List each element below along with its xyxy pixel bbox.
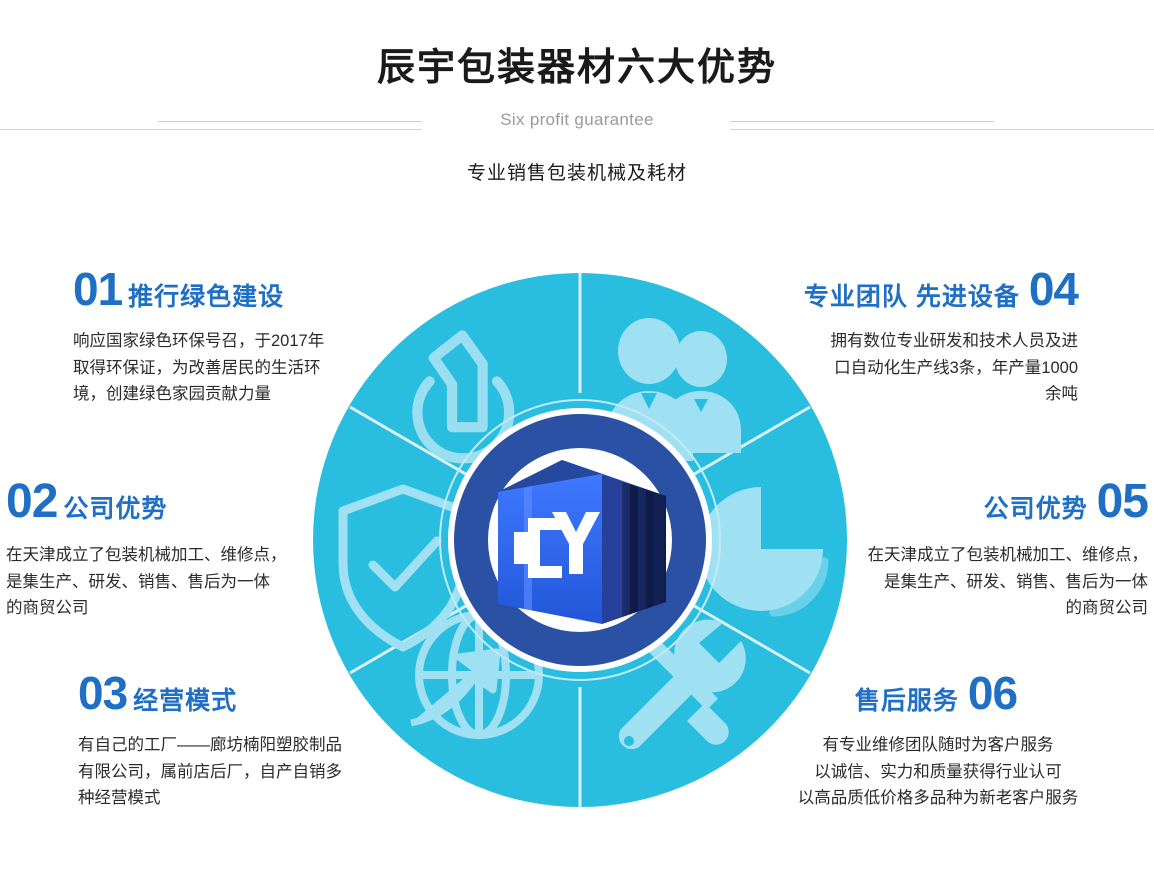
advantage-card-03: 03 经营模式 有自己的工厂——廊坊楠阳塑胶制品 有限公司，属前店后厂，自产自销… <box>78 670 388 812</box>
body-line: 境，创建绿色家园贡献力量 <box>73 381 373 408</box>
advantage-card-04-body: 拥有数位专业研发和技术人员及进 口自动化生产线3条，年产量1000 余吨 <box>782 328 1078 408</box>
body-line: 有限公司，属前店后厂，自产自销多 <box>78 759 388 786</box>
body-line: 在天津成立了包装机械加工、维修点， <box>6 542 302 569</box>
advantage-card-04: 专业团队 先进设备 04 拥有数位专业研发和技术人员及进 口自动化生产线3条，年… <box>782 266 1078 408</box>
advantage-card-03-body: 有自己的工厂——廊坊楠阳塑胶制品 有限公司，属前店后厂，自产自销多 种经营模式 <box>78 732 388 812</box>
body-line: 拥有数位专业研发和技术人员及进 <box>782 328 1078 355</box>
advantage-card-01-number: 01 <box>73 266 122 312</box>
advantage-card-06-number: 06 <box>968 670 1017 716</box>
body-line: 的商贸公司 <box>6 595 302 622</box>
advantage-card-05-label: 公司优势 <box>984 497 1088 522</box>
advantage-card-03-label: 经营模式 <box>133 689 237 714</box>
body-line: 种经营模式 <box>78 785 388 812</box>
advantage-card-01-body: 响应国家绿色环保号召，于2017年 取得环保证，为改善居民的生活环 境，创建绿色… <box>73 328 373 408</box>
subtitle-english: Six profit guarantee <box>0 110 1154 130</box>
advantage-card-02-label: 公司优势 <box>63 497 167 522</box>
advantage-card-02-heading: 02 公司优势 <box>6 478 302 526</box>
advantage-card-02-body: 在天津成立了包装机械加工、维修点， 是集生产、研发、销售、售后为一体 的商贸公司 <box>6 542 302 622</box>
advantage-card-06-body: 有专业维修团队随时为客户服务 以诚信、实力和质量获得行业认可 以高品质低价格多品… <box>780 732 1096 812</box>
advantage-card-01-label: 推行绿色建设 <box>128 285 284 310</box>
advantage-card-06-heading: 售后服务 06 <box>780 670 1096 716</box>
advantage-card-05-body: 在天津成立了包装机械加工、维修点， 是集生产、研发、销售、售后为一体 的商贸公司 <box>856 542 1148 622</box>
advantage-card-05-number: 05 <box>1097 478 1148 526</box>
body-line: 响应国家绿色环保号召，于2017年 <box>73 328 373 355</box>
body-line: 在天津成立了包装机械加工、维修点， <box>856 542 1148 569</box>
body-line: 是集生产、研发、销售、售后为一体 <box>6 569 302 596</box>
body-line: 余吨 <box>782 381 1078 408</box>
page-header: 辰宇包装器材六大优势 Six profit guarantee 专业销售包装机械… <box>0 0 1154 210</box>
body-line: 是集生产、研发、销售、售后为一体 <box>856 569 1148 596</box>
advantage-card-03-heading: 03 经营模式 <box>78 670 388 716</box>
body-line: 取得环保证，为改善居民的生活环 <box>73 355 373 382</box>
advantage-card-03-number: 03 <box>78 670 127 716</box>
advantage-card-04-label: 专业团队 先进设备 <box>804 285 1020 310</box>
advantage-card-04-number: 04 <box>1029 266 1078 312</box>
body-line: 以诚信、实力和质量获得行业认可 <box>780 759 1096 786</box>
body-line: 口自动化生产线3条，年产量1000 <box>782 355 1078 382</box>
advantage-card-06: 售后服务 06 有专业维修团队随时为客户服务 以诚信、实力和质量获得行业认可 以… <box>780 670 1096 812</box>
advantage-card-02: 02 公司优势 在天津成立了包装机械加工、维修点， 是集生产、研发、销售、售后为… <box>6 478 302 622</box>
advantage-card-06-label: 售后服务 <box>855 689 959 714</box>
advantage-card-01: 01 推行绿色建设 响应国家绿色环保号召，于2017年 取得环保证，为改善居民的… <box>73 266 373 408</box>
body-line: 有专业维修团队随时为客户服务 <box>780 732 1096 759</box>
advantage-card-04-heading: 专业团队 先进设备 04 <box>782 266 1078 312</box>
six-advantage-wheel <box>313 273 847 807</box>
advantage-card-05-heading: 公司优势 05 <box>856 478 1148 526</box>
page-title: 辰宇包装器材六大优势 <box>0 36 1154 91</box>
advantage-card-02-number: 02 <box>6 478 57 526</box>
body-line: 以高品质低价格多品种为新老客户服务 <box>780 785 1096 812</box>
body-line: 有自己的工厂——廊坊楠阳塑胶制品 <box>78 732 388 759</box>
advantage-card-05: 公司优势 05 在天津成立了包装机械加工、维修点， 是集生产、研发、销售、售后为… <box>856 478 1148 622</box>
advantage-card-01-heading: 01 推行绿色建设 <box>73 266 373 312</box>
subtitle-chinese: 专业销售包装机械及耗材 <box>0 158 1154 185</box>
body-line: 的商贸公司 <box>856 595 1148 622</box>
